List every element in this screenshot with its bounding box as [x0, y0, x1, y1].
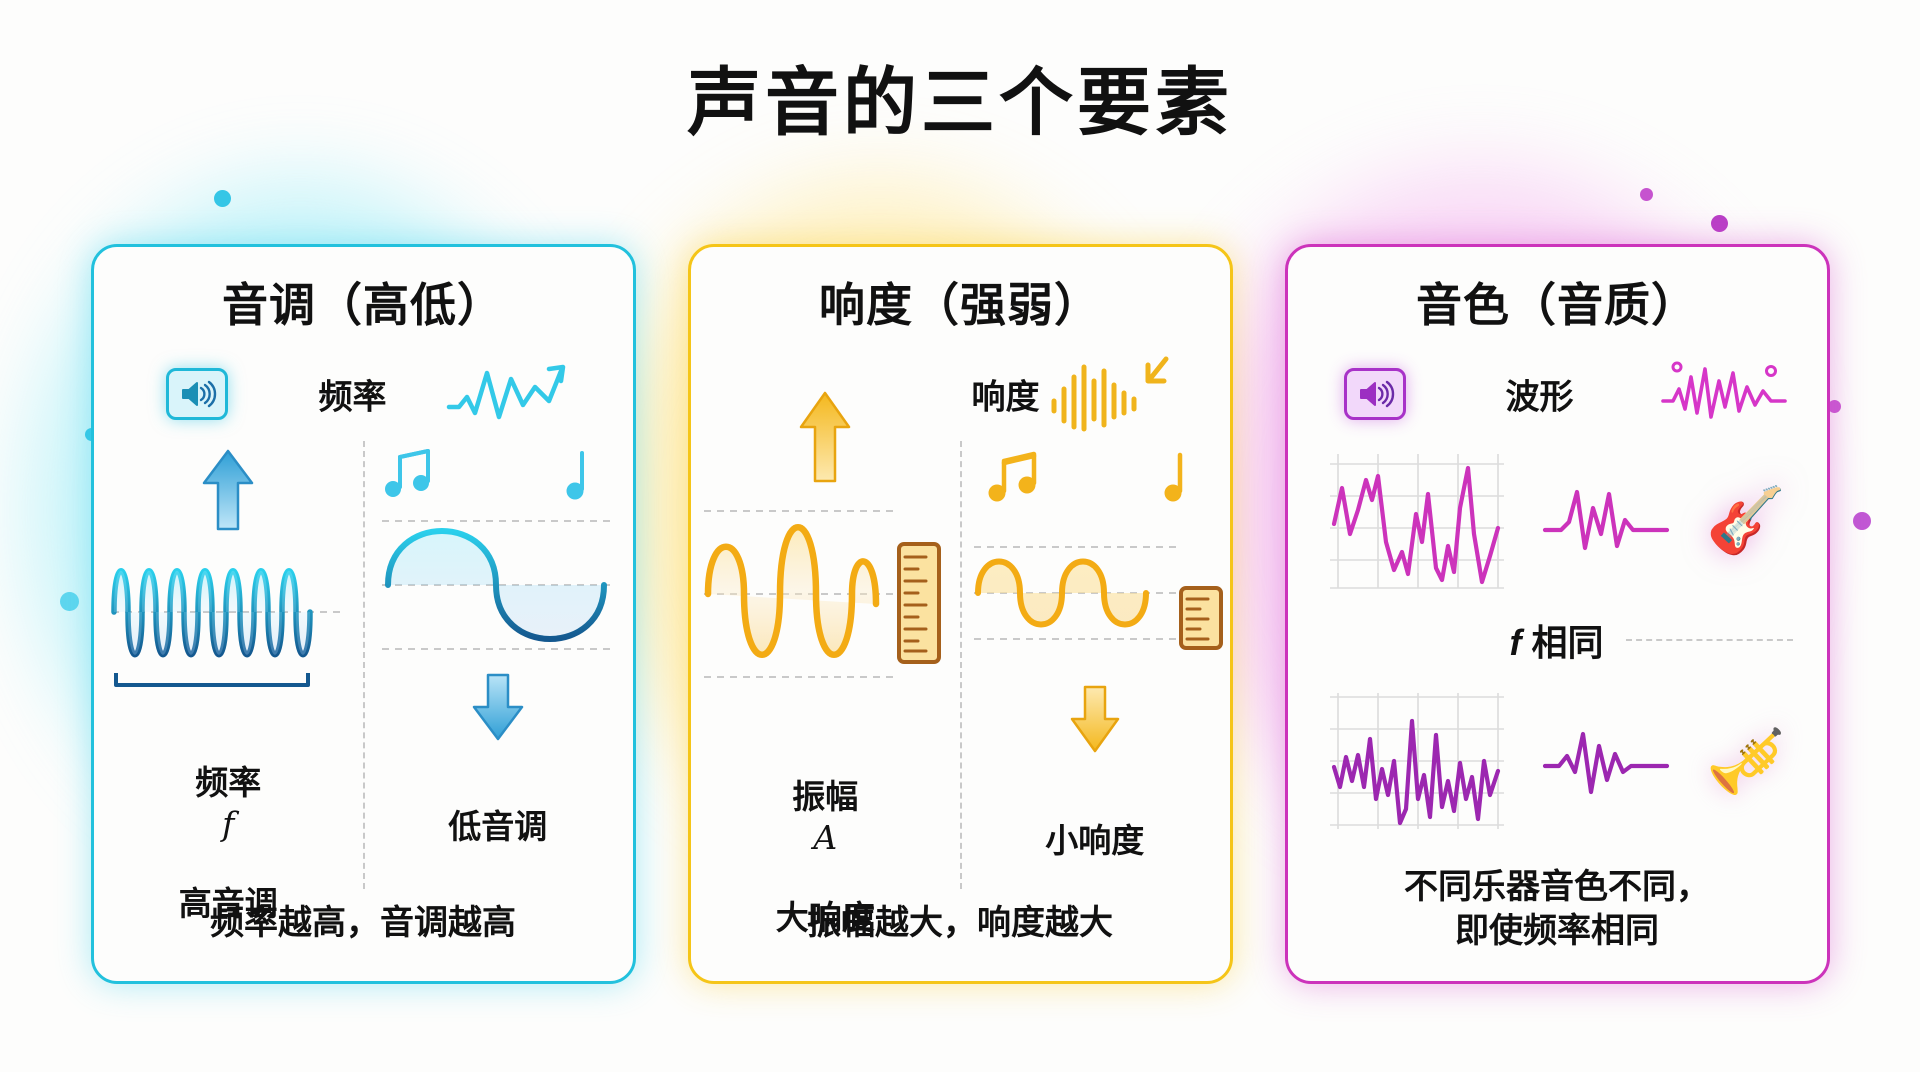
decor-dot [1640, 188, 1653, 201]
card-timbre-footer: 不同乐器音色不同， 即使频率相同 [1288, 865, 1827, 953]
arrow-up-icon [198, 447, 258, 533]
card-loudness-title: 响度（强弱） [819, 269, 1101, 335]
card-pitch-left-column: 频率 f 高音调 [94, 437, 364, 981]
high-frequency-wave-icon [445, 357, 575, 431]
cards-row: 音调（高低） 频率 [0, 244, 1920, 984]
guitar-wave-packet [1543, 472, 1669, 568]
timbre-row-trumpet: 🎺 [1288, 677, 1827, 845]
card-loudness-header-strip: 响度 [691, 351, 1230, 437]
speaker-icon[interactable] [1344, 368, 1406, 420]
timbre-middle-row: f 相同 [1288, 603, 1827, 677]
card-loudness-left-column: 振幅 A 大响度 [691, 437, 961, 981]
arrow-down-icon [468, 671, 528, 743]
card-pitch-title: 音调（高低） [222, 269, 504, 335]
card-loudness-left-caption-main: 振幅 [792, 778, 858, 815]
card-pitch-header-strip: 频率 [94, 351, 633, 437]
music-note-icons [984, 449, 1206, 507]
card-pitch[interactable]: 音调（高低） 频率 [91, 244, 636, 984]
high-frequency-waveform [108, 537, 348, 687]
guitar-icon: 🎸 [1706, 488, 1786, 552]
timbre-dashed-rule [1626, 639, 1793, 641]
card-timbre[interactable]: 音色（音质） 波形 [1285, 244, 1830, 984]
equalizer-icon [1048, 357, 1172, 431]
timbre-waveform-icon [1661, 361, 1789, 427]
card-timbre-quantity-label: 波形 [1506, 370, 1574, 419]
card-pitch-footer: 频率越高，音调越高 [94, 901, 633, 945]
card-pitch-right-caption-sub: 低音调 [448, 808, 547, 845]
card-loudness-left-caption-symbol: A [813, 818, 837, 857]
card-loudness-right-caption-sub: 小响度 [1045, 822, 1144, 859]
speaker-icon[interactable] [166, 368, 228, 420]
card-loudness-footer: 振幅越大，响度越大 [691, 901, 1230, 945]
card-pitch-body: 频率 f 高音调 [94, 437, 633, 981]
card-pitch-right-column: 低音调 [363, 437, 633, 981]
card-loudness-right-caption: 小响度 [960, 781, 1230, 862]
card-pitch-right-caption: 低音调 [363, 767, 633, 848]
low-frequency-waveform [378, 505, 618, 665]
trumpet-icon: 🎺 [1706, 729, 1786, 793]
tall-ruler-icon [896, 541, 942, 665]
card-timbre-middle-label: f 相同 [1510, 614, 1604, 666]
short-ruler-icon [1178, 585, 1224, 651]
card-pitch-left-caption-symbol: f [222, 804, 234, 843]
trumpet-waveform-grid [1328, 691, 1506, 831]
card-loudness-quantity-label: 响度 [972, 370, 1040, 419]
card-timbre-title: 音色（音质） [1416, 269, 1698, 335]
trumpet-wave-packet [1543, 716, 1669, 806]
card-timbre-header-strip: 波形 [1288, 351, 1827, 437]
music-note-icons [382, 445, 614, 503]
card-loudness-right-column: 小响度 [960, 437, 1230, 981]
card-timbre-middle-symbol: f [1510, 622, 1522, 663]
timbre-row-guitar: 🎸 [1288, 437, 1827, 603]
card-pitch-left-caption: 频率 f 高音调 [94, 723, 364, 924]
arrow-down-icon [1066, 683, 1124, 755]
card-timbre-middle-text: 相同 [1532, 622, 1604, 663]
decor-dot [214, 190, 231, 207]
page-title: 声音的三个要素 [0, 62, 1920, 143]
arrow-up-icon [795, 389, 855, 485]
decor-dot [1711, 215, 1728, 232]
card-loudness[interactable]: 响度（强弱） 响度 [688, 244, 1233, 984]
guitar-waveform-grid [1328, 450, 1506, 590]
card-loudness-body: 振幅 A 大响度 [691, 437, 1230, 981]
card-pitch-quantity-label: 频率 [319, 370, 387, 419]
card-pitch-left-caption-main: 频率 [195, 764, 261, 801]
